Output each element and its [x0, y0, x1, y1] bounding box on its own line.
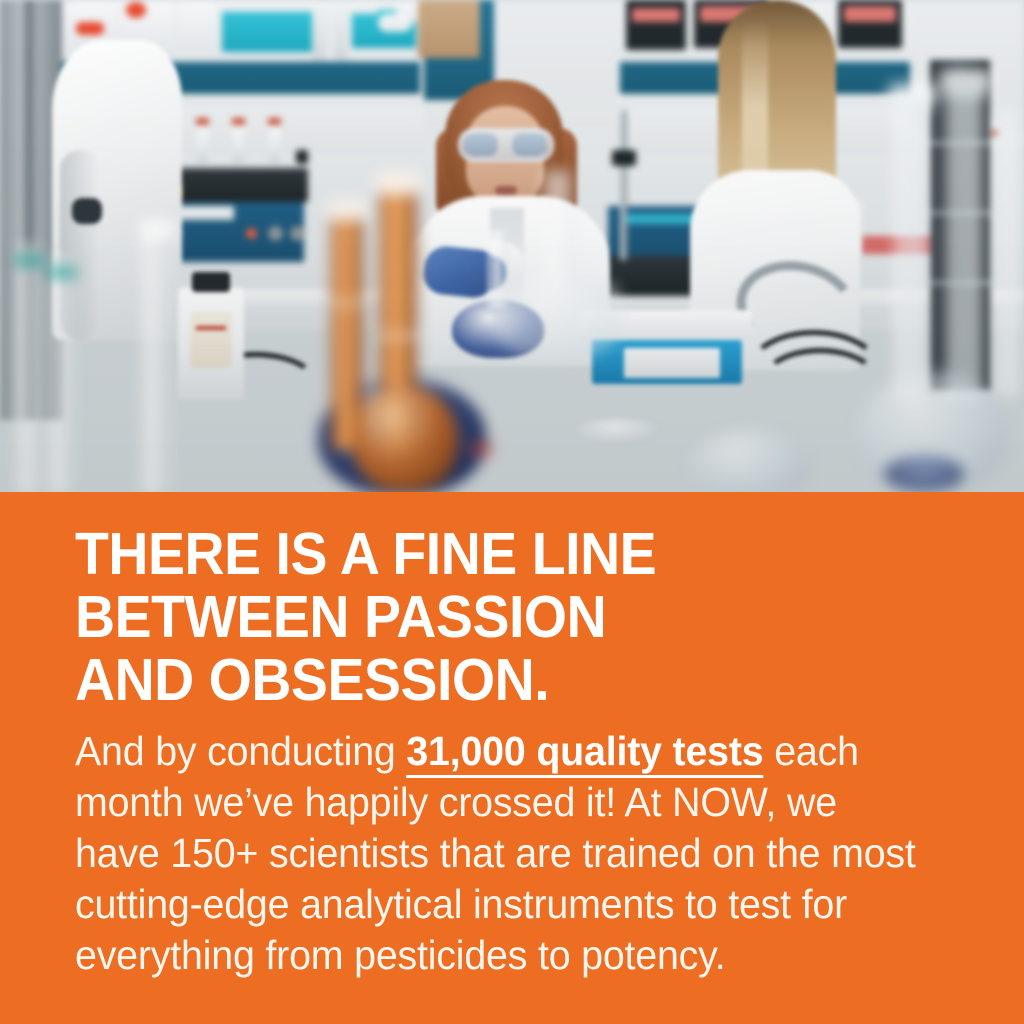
highlight-quality-tests: 31,000 quality tests — [406, 728, 763, 778]
lab-stand-clamp — [612, 150, 636, 166]
test-tube-2 — [196, 122, 209, 164]
glass-column-3 — [996, 110, 1024, 396]
wash-bottle-label — [190, 312, 232, 368]
pipette-1-band — [15, 256, 45, 265]
amber-column-1-ring — [330, 300, 364, 307]
test-tube-3 — [232, 122, 245, 164]
shelf-label-red-1 — [76, 22, 104, 35]
pipette-3-top — [138, 218, 176, 240]
amber-flask-bulb — [352, 386, 458, 492]
test-tube-cap-3 — [232, 118, 245, 125]
lab-stand-rod — [620, 110, 627, 260]
safety-goggles-lens-left — [464, 133, 498, 156]
erlenmeyer-body — [494, 282, 620, 358]
shelf-bottle-1 — [312, 0, 326, 62]
equipment-cable-2 — [760, 348, 880, 418]
shelf-box-cardboard — [418, 0, 480, 58]
body-text-part1: And by conducting — [75, 728, 406, 774]
test-tube-4 — [268, 122, 281, 164]
orange-text-panel: THERE IS A FINE LINE BETWEEN PASSION AND… — [0, 492, 1024, 1024]
foreground-flask-center — [690, 430, 810, 492]
shelf-box-4 — [352, 0, 378, 14]
wash-bottle-label-stripe — [196, 326, 226, 330]
shelf-box-3 — [178, 0, 216, 52]
shelf-label-red-2 — [126, 2, 146, 18]
page-title: THERE IS A FINE LINE BETWEEN PASSION AND… — [75, 523, 902, 712]
test-tube-cap-2 — [196, 118, 209, 125]
glass-column-2-cap — [940, 70, 992, 98]
center-scientist-mouth — [495, 186, 517, 195]
shelf-bottle-2 — [334, 0, 348, 62]
pipette-3 — [140, 222, 174, 492]
body-paragraph: And by conducting 31,000 quality tests e… — [75, 726, 920, 981]
instrument-knob-2 — [290, 226, 305, 241]
pipette-1 — [16, 244, 44, 492]
instrument-led — [246, 228, 257, 239]
headline-line-3: AND OBSESSION. — [75, 649, 902, 712]
headline-line-2: BETWEEN PASSION — [75, 586, 902, 649]
safety-goggles-lens-right — [512, 133, 546, 156]
pipette-2 — [48, 256, 76, 492]
test-tube-cap-4 — [268, 118, 281, 125]
erlenmeyer-neck — [540, 170, 574, 290]
foreground-flask-right-liquid — [884, 456, 964, 492]
glass-column-2 — [944, 88, 988, 400]
lab-photo: 500 — [0, 0, 1024, 492]
pipette-2-band — [47, 268, 77, 277]
shelf-box-cyan-top — [222, 0, 318, 12]
amber-column-2-cap — [374, 170, 422, 196]
lab-balance-panel — [624, 348, 720, 378]
shelf-label-pink-3 — [844, 6, 896, 22]
flask-red-mark — [470, 442, 492, 456]
shelf-box-cyan — [222, 8, 318, 52]
headline-line-1: THERE IS A FINE LINE — [75, 523, 902, 586]
wash-bottle-cap — [192, 272, 230, 292]
amber-column-1-cap — [326, 198, 368, 222]
promo-poster: 500 THERE — [0, 0, 1024, 1024]
instrument-knob-1 — [268, 226, 283, 241]
glass-column-1-cap — [888, 84, 936, 110]
left-scientist-hand — [72, 198, 102, 224]
petri-dish — [576, 418, 662, 444]
glass-column-1 — [892, 100, 932, 400]
shelf-jar — [378, 14, 412, 32]
shelf-label-pink-1 — [632, 8, 680, 22]
rack-clamp-right — [296, 150, 308, 164]
amber-column-2-ring — [378, 332, 418, 340]
